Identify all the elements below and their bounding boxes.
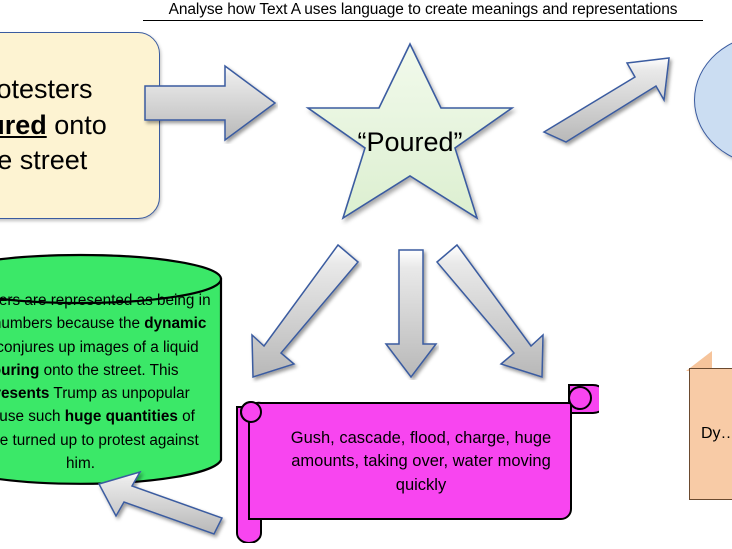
star-polygon: [308, 44, 512, 218]
keyword-star-shape[interactable]: “Poured”: [283, 42, 537, 242]
analysis-cylinder-shape[interactable]: Protesters are represented as being in l…: [0, 253, 223, 486]
connotations-scroll-shape[interactable]: Gush, cascade, flood, charge, huge amoun…: [231, 381, 599, 543]
blue-oval-shape[interactable]: [694, 34, 732, 166]
quotation-text: Protesters poured onto the street: [0, 72, 159, 179]
quotation-line-2-rest: onto: [47, 110, 107, 140]
scroll-body: [249, 403, 571, 519]
quotation-line-1: Protesters: [0, 74, 93, 104]
text-a-quotation-box[interactable]: Protesters poured onto the street: [0, 32, 160, 219]
slide-canvas: Analyse how Text A uses language to crea…: [0, 0, 732, 549]
arrow-scroll-to-cylinder: [96, 466, 228, 544]
arrow-quote-to-star: [143, 62, 278, 144]
orange-note-text: Dy… sug… … m…: [690, 422, 732, 446]
quotation-line-3: the street: [0, 145, 87, 175]
orange-note-box[interactable]: Dy… sug… … m…: [689, 368, 732, 500]
arrow-star-to-scroll: [383, 248, 439, 380]
arrow-star-to-note: [433, 243, 553, 383]
arrow-star-to-oval: [541, 52, 676, 157]
quotation-highlight-word: poured: [0, 110, 47, 140]
cylinder-body: [0, 279, 221, 484]
page-title: Analyse how Text A uses language to crea…: [143, 1, 703, 21]
arrow-star-to-cylinder: [242, 243, 362, 383]
